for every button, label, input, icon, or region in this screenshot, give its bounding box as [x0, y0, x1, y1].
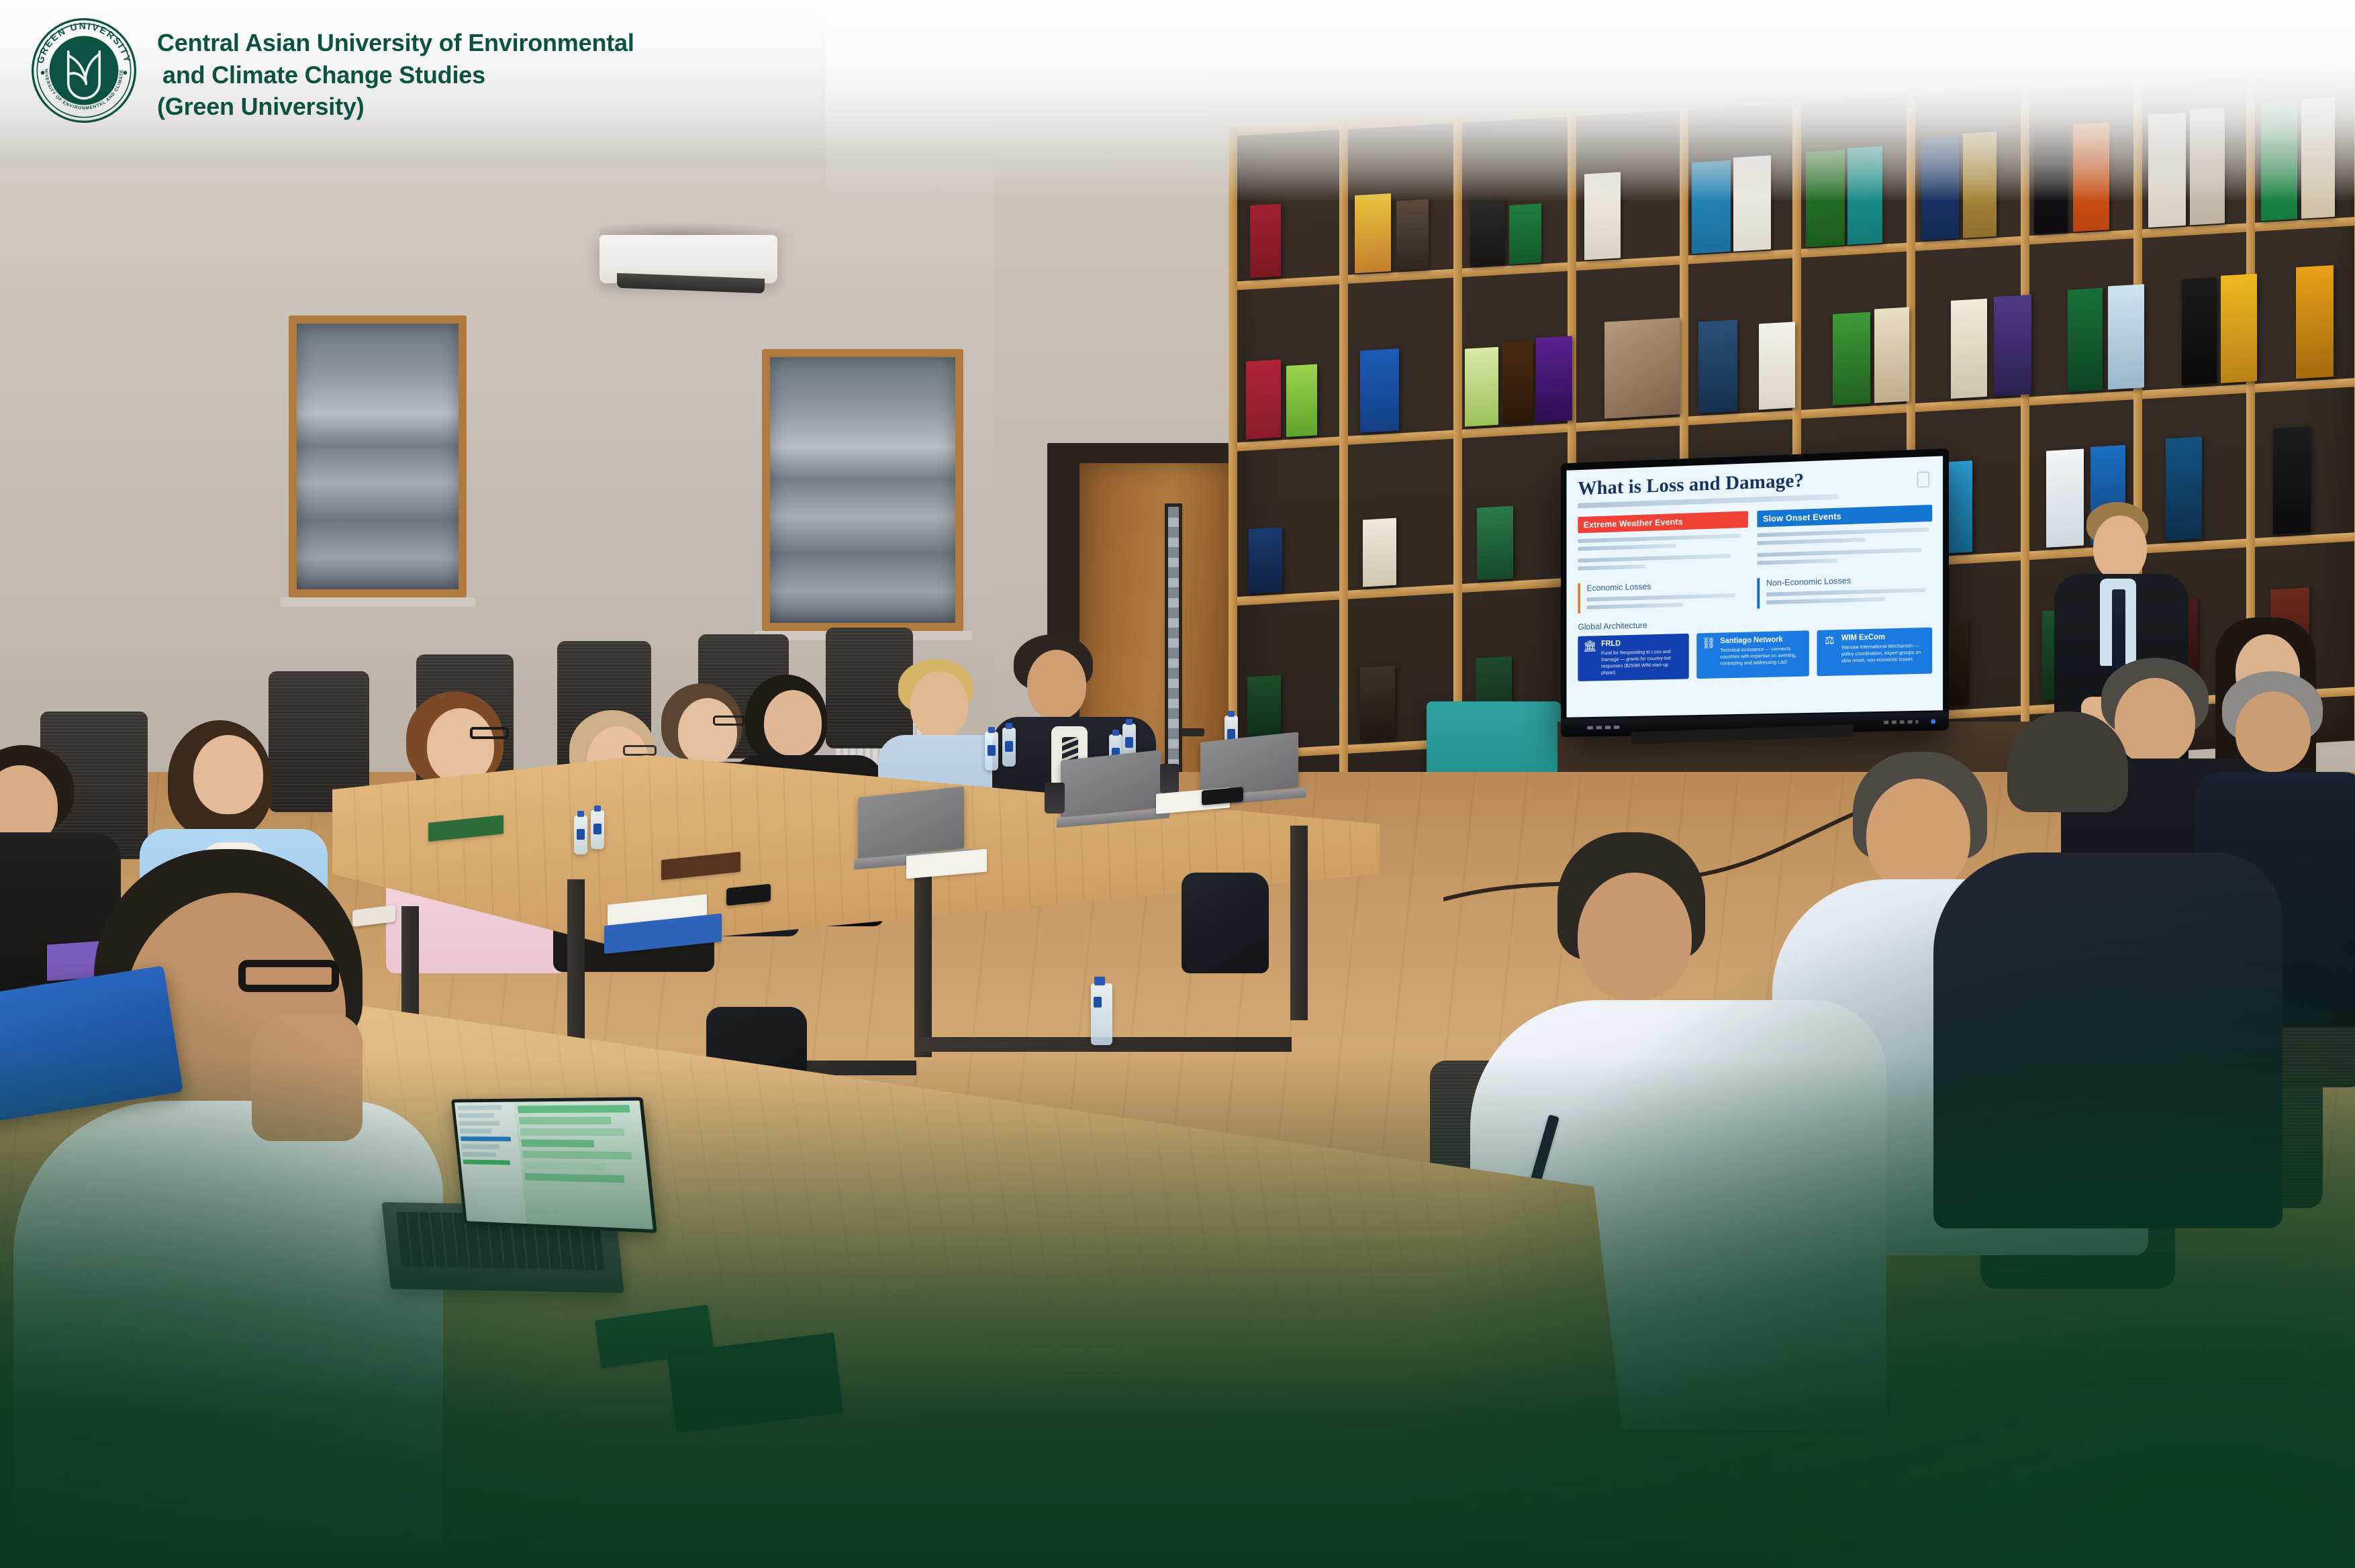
- book: [1963, 132, 1997, 238]
- door-handle: [1182, 728, 1204, 736]
- screenshot-canvas: What is Loss and Damage? Extreme Weather…: [0, 0, 2355, 1568]
- architecture-card-frld: 🏛 FRLD Fund for Responding to Loss and D…: [1578, 634, 1688, 681]
- air-conditioner: [599, 235, 777, 283]
- book: [1249, 527, 1282, 593]
- slide-title: What is Loss and Damage?: [1578, 466, 1932, 499]
- book: [1847, 146, 1882, 245]
- book: [1759, 322, 1795, 409]
- display-power-led: [1931, 719, 1935, 724]
- extreme-weather-body: [1578, 534, 1748, 571]
- card-title: Santiago Network: [1720, 635, 1804, 645]
- book: [1536, 336, 1572, 422]
- non-economic-losses-block: Non-Economic Losses: [1757, 573, 1932, 609]
- book: [2190, 107, 2225, 225]
- book: [1355, 193, 1391, 273]
- brand-header: GREEN UNIVERSITY CENTRAL ASIAN UNIVERSIT…: [0, 0, 953, 161]
- book: [2046, 449, 2084, 548]
- book: [2073, 122, 2109, 232]
- book: [2182, 277, 2217, 385]
- eyeglasses: [470, 727, 509, 739]
- display-indicator-right: [1884, 720, 1918, 724]
- laptop-screen: [451, 1097, 657, 1233]
- card-title: FRLD: [1601, 638, 1684, 648]
- global-architecture-cards: 🏛 FRLD Fund for Responding to Loss and D…: [1578, 628, 1932, 681]
- book: [1874, 307, 1909, 403]
- slow-onset-body: [1757, 528, 1932, 565]
- book: [1470, 197, 1505, 266]
- book: [2221, 274, 2257, 383]
- book: [2108, 284, 2144, 389]
- book: [2261, 101, 2297, 221]
- economic-losses-block: Economic Losses: [1578, 579, 1748, 614]
- book: [2148, 113, 2186, 228]
- slide-losses: Economic Losses Non-Economic Losses: [1578, 573, 1932, 614]
- presentation-slide: What is Loss and Damage? Extreme Weather…: [1566, 456, 1943, 717]
- book: [1994, 295, 2031, 396]
- book: [1360, 666, 1395, 740]
- book: [1509, 203, 1541, 264]
- brand-title-line-1: Central Asian University of Environmenta…: [157, 27, 634, 59]
- book: [2296, 265, 2334, 379]
- book: [1502, 341, 1533, 425]
- paper-cup: [1160, 764, 1179, 793]
- brand-title-line-3: (Green University): [157, 91, 634, 123]
- water-bottle: [574, 816, 587, 854]
- window-right: [762, 349, 963, 631]
- water-bottle: [591, 810, 604, 849]
- book: [2301, 97, 2335, 219]
- eyeglasses: [713, 716, 745, 726]
- water-bottle: [985, 732, 998, 771]
- window-left: [289, 315, 467, 597]
- spreadsheet-grid: [514, 1101, 653, 1230]
- book: [2273, 426, 2311, 534]
- book: [1733, 155, 1771, 251]
- foreground-laptop: [373, 1087, 675, 1323]
- wall-display: What is Loss and Damage? Extreme Weather…: [1561, 448, 1949, 737]
- eyeglasses: [238, 960, 339, 992]
- book: [2166, 436, 2202, 540]
- book: [1698, 320, 1737, 413]
- green-university-seal-logo: GREEN UNIVERSITY CENTRAL ASIAN UNIVERSIT…: [28, 15, 140, 126]
- book: [1286, 364, 1317, 437]
- non-economic-losses-label: Non-Economic Losses: [1766, 573, 1932, 588]
- card-body: Technical assistance — connects countrie…: [1720, 645, 1804, 667]
- card-title: WIM ExCom: [1841, 632, 1927, 642]
- balance-scales-icon: ⚖: [1823, 634, 1837, 671]
- extreme-weather-events-header: Extreme Weather Events: [1578, 511, 1748, 533]
- hand-on-chin: [252, 1014, 363, 1141]
- book: [1806, 150, 1845, 247]
- slide-column-extreme-weather: Extreme Weather Events: [1578, 511, 1748, 574]
- network-nodes-icon: ⛓: [1702, 638, 1716, 674]
- slow-onset-events-header: Slow Onset Events: [1757, 505, 1932, 528]
- table-leg: [1290, 826, 1308, 1020]
- book: [2068, 288, 2103, 392]
- slide-columns: Extreme Weather Events Slow Onset Events: [1578, 505, 1932, 575]
- brand-title-line-2: and Climate Change Studies: [157, 59, 634, 91]
- slide-corner-mark: [1917, 471, 1929, 488]
- book: [1363, 518, 1396, 587]
- architecture-card-santiago-network: ⛓ Santiago Network Technical assistance …: [1696, 630, 1809, 679]
- architecture-card-wim-excom: ⚖ WIM ExCom Warsaw International Mechani…: [1817, 628, 1932, 677]
- window-sill-left: [281, 597, 475, 607]
- book: [1584, 172, 1621, 260]
- card-body: Warsaw International Mechanism — policy …: [1841, 642, 1927, 665]
- book: [1604, 317, 1680, 418]
- book: [1477, 506, 1513, 581]
- book: [1250, 204, 1281, 279]
- book: [2034, 126, 2068, 234]
- paper-cup: [1045, 783, 1065, 814]
- book: [1465, 347, 1498, 427]
- economic-losses-label: Economic Losses: [1586, 579, 1747, 593]
- water-bottle: [1002, 728, 1016, 767]
- bank-building-icon: 🏛: [1583, 640, 1597, 677]
- book: [1246, 360, 1281, 440]
- display-indicator-left: [1587, 726, 1623, 730]
- book: [1833, 312, 1870, 405]
- backpack: [1182, 873, 1269, 973]
- conference-room-photo: What is Loss and Damage? Extreme Weather…: [0, 0, 2355, 1568]
- table-leg: [914, 856, 932, 1057]
- book: [1951, 299, 1987, 399]
- slide-column-slow-onset: Slow Onset Events: [1757, 505, 1932, 569]
- brand-title-block: Central Asian University of Environmenta…: [157, 15, 634, 123]
- eyeglasses: [623, 745, 657, 756]
- water-bottle: [1091, 983, 1112, 1045]
- book: [1921, 136, 1959, 240]
- card-body: Fund for Responding to Loss and Damage —…: [1601, 648, 1684, 677]
- book: [1692, 160, 1731, 254]
- spreadsheet-app: [454, 1101, 653, 1230]
- book: [1396, 199, 1429, 271]
- book: [1360, 348, 1399, 432]
